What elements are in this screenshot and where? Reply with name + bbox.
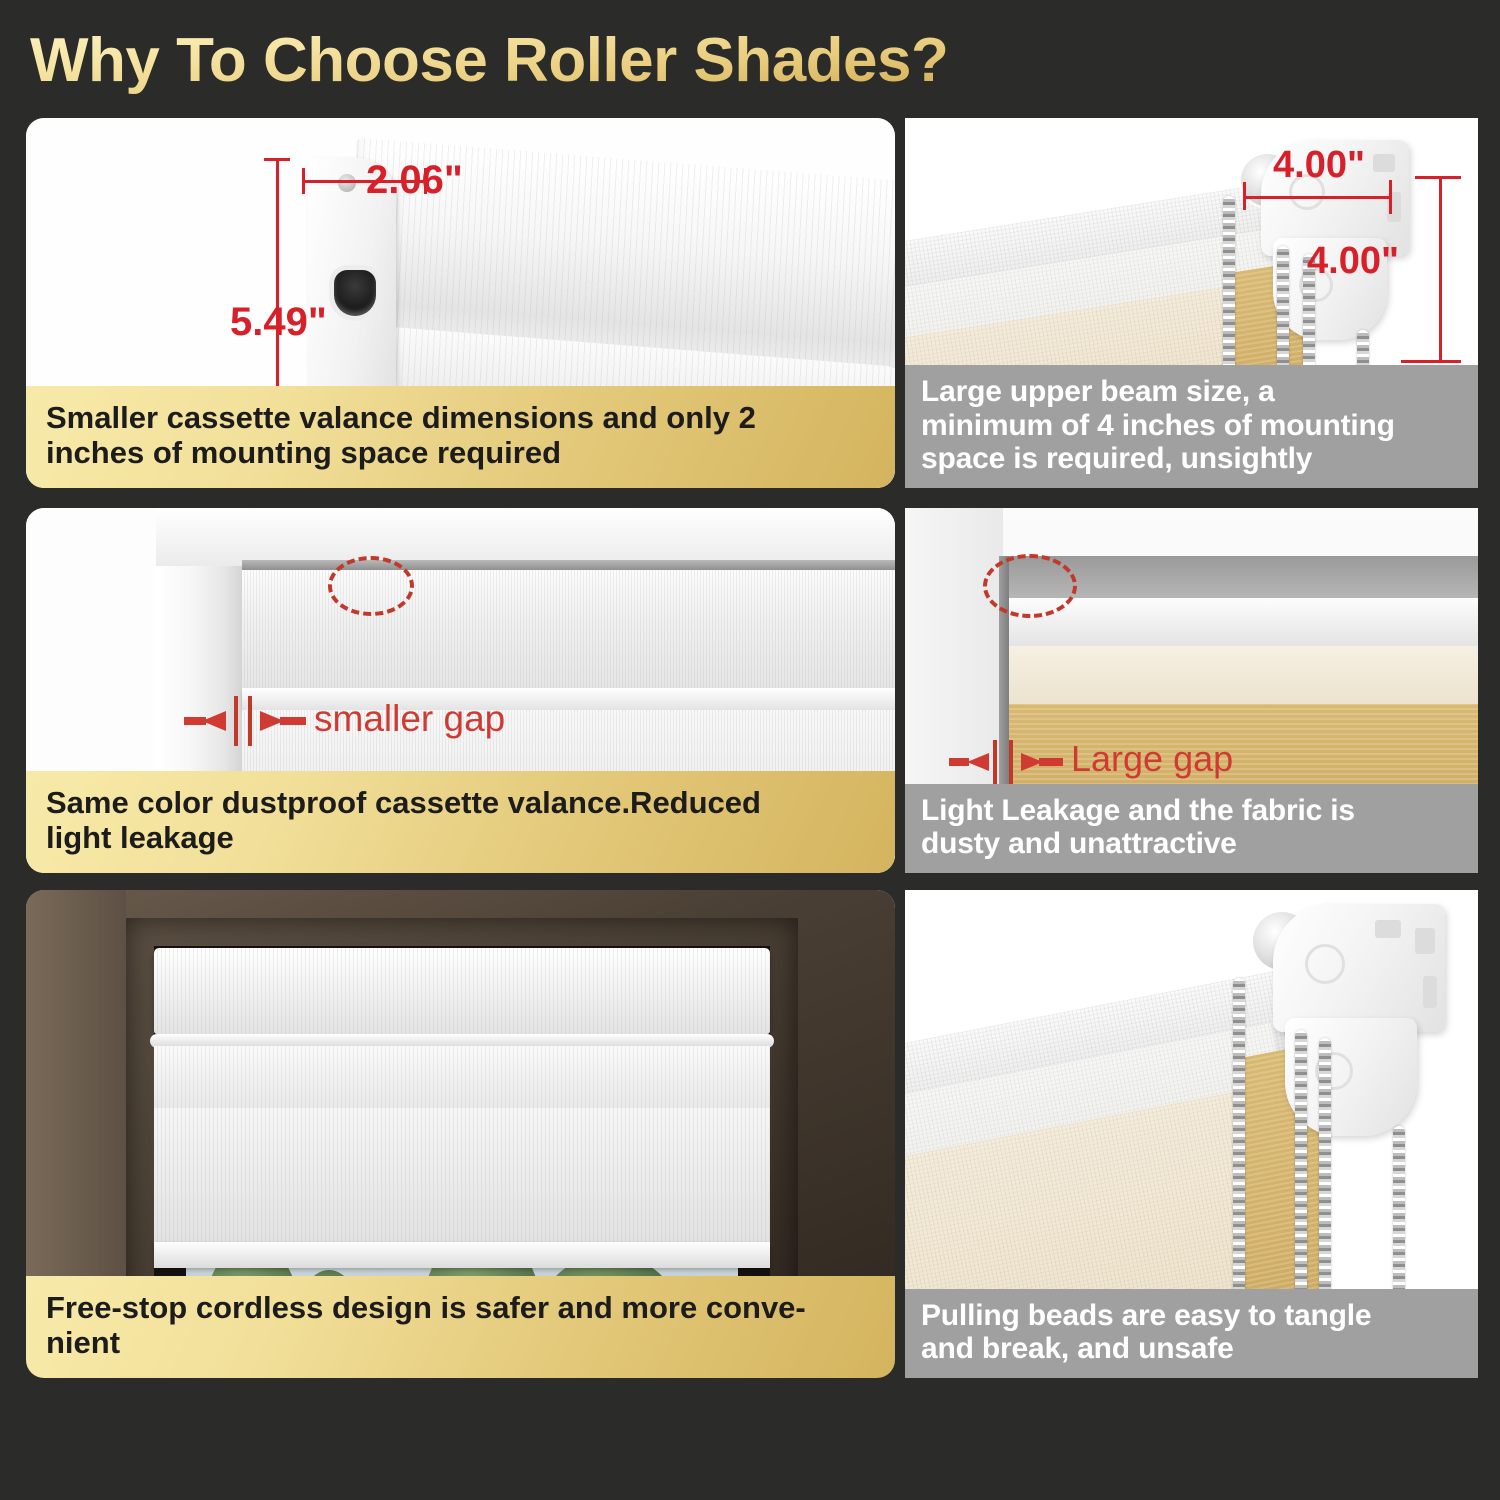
shade-bottom-rail [154,1242,770,1268]
panel-smaller-cassette: 5.49" 2.06" Smaller cassette valance dim… [26,118,895,488]
caption-line-2: minimum of 4 inches of mounting [921,409,1462,443]
gap-label: Large gap [1071,738,1233,780]
caption-line-1: Same color dustproof cassette valance.Re… [46,785,875,820]
panel-dustproof-cassette: smaller gap Same color dustproof cassett… [26,508,895,873]
panel-cordless-design: Free-stop cordless design is safer and m… [26,890,895,1378]
panel-caption-bad-3: Pulling beads are easy to tangle and bre… [905,1289,1478,1378]
shade-upper-band [154,1046,770,1108]
width-dimension-line [1243,196,1391,199]
cassette-valance [154,948,770,1034]
width-tick-left [302,168,305,194]
bracket-pin-icon [338,174,356,192]
panel-pulling-beads: Pulling beads are easy to tangle and bre… [905,890,1478,1378]
height-dimension-label: 5.49" [230,300,327,345]
caption-line-1: Free-stop cordless design is safer and m… [46,1290,875,1325]
height-tick-bottom [1401,360,1461,363]
panel-caption-bad-2: Light Leakage and the fabric is dusty an… [905,784,1478,873]
mounting-bracket-upper [1273,904,1445,1032]
panel-grid: 5.49" 2.06" Smaller cassette valance dim… [0,0,1500,1500]
caption-line-2: nient [46,1325,875,1360]
caption-line-3: space is required, unsightly [921,442,1462,476]
caption-line-2: dusty and unattractive [921,827,1462,861]
caption-line-1: Pulling beads are easy to tangle [921,1299,1462,1333]
caption-line-1: Light Leakage and the fabric is [921,794,1462,828]
shade-fabric [154,1108,770,1258]
width-dimension-label: 2.06" [366,158,463,203]
width-tick-right [1389,180,1392,214]
panel-caption-good-3: Free-stop cordless design is safer and m… [26,1276,895,1378]
width-tick-left [1243,182,1246,210]
caption-line-2: light leakage [46,820,875,855]
panel-light-leakage: Large gap Light Leakage and the fabric i… [905,508,1478,873]
height-dimension-label: 4.00" [1307,240,1399,283]
height-tick-top [264,158,290,161]
gap-label: smaller gap [314,698,505,740]
caption-line-2: and break, and unsafe [921,1332,1462,1366]
panel-caption-good-1: Smaller cassette valance dimensions and … [26,386,895,488]
panel-caption-bad-1: Large upper beam size, a minimum of 4 in… [905,365,1478,488]
bracket-slot-icon [334,270,376,316]
height-tick-top [1415,176,1461,179]
panel-large-upper-beam: 4.00" 4.00" Large upper beam size, a min… [905,118,1478,488]
panel-caption-good-2: Same color dustproof cassette valance.Re… [26,771,895,873]
width-dimension-label: 4.00" [1273,144,1365,187]
caption-line-1: Smaller cassette valance dimensions and … [46,400,875,435]
height-dimension-line [1439,176,1442,362]
caption-line-1: Large upper beam size, a [921,375,1462,409]
infographic-page: Why To Choose Roller Shades? [0,0,1500,1500]
caption-line-2: inches of mounting space required [46,435,875,470]
